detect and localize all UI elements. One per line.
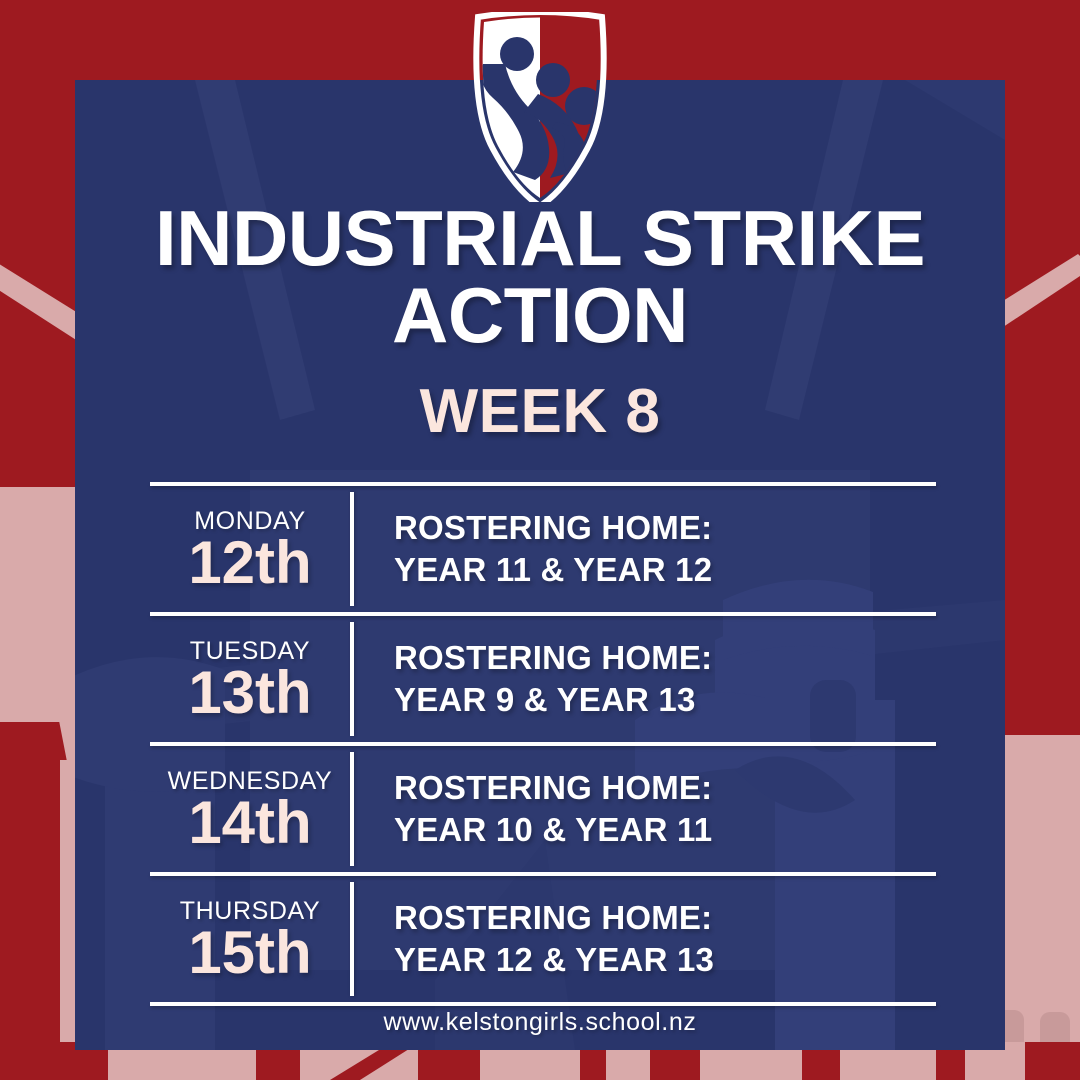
action-line2: YEAR 10 & YEAR 11 xyxy=(394,809,936,851)
strike-action-poster: INDUSTRIAL STRIKE ACTION WEEK 8 MONDAY 1… xyxy=(0,0,1080,1080)
website-url[interactable]: www.kelstongirls.school.nz xyxy=(384,1008,697,1036)
day-date: 15th xyxy=(188,922,311,983)
action-line1: ROSTERING HOME: xyxy=(394,897,936,939)
action-cell: ROSTERING HOME: YEAR 10 & YEAR 11 xyxy=(354,746,936,872)
table-row: WEDNESDAY 14th ROSTERING HOME: YEAR 10 &… xyxy=(150,746,936,872)
action-line1: ROSTERING HOME: xyxy=(394,507,936,549)
headline-line2: ACTION xyxy=(75,277,1005,354)
action-cell: ROSTERING HOME: YEAR 9 & YEAR 13 xyxy=(354,616,936,742)
week-label: WEEK 8 xyxy=(75,376,1005,447)
day-cell: TUESDAY 13th xyxy=(150,616,350,742)
table-row: TUESDAY 13th ROSTERING HOME: YEAR 9 & YE… xyxy=(150,616,936,742)
table-row: THURSDAY 15th ROSTERING HOME: YEAR 12 & … xyxy=(150,876,936,1002)
day-date: 12th xyxy=(188,532,311,593)
day-date: 14th xyxy=(188,792,311,853)
action-cell: ROSTERING HOME: YEAR 11 & YEAR 12 xyxy=(354,486,936,612)
day-cell: MONDAY 12th xyxy=(150,486,350,612)
shield-logo-icon xyxy=(472,12,608,202)
day-cell: WEDNESDAY 14th xyxy=(150,746,350,872)
schedule-table: MONDAY 12th ROSTERING HOME: YEAR 11 & YE… xyxy=(150,482,936,1006)
headline-block: INDUSTRIAL STRIKE ACTION WEEK 8 xyxy=(75,200,1005,447)
action-line1: ROSTERING HOME: xyxy=(394,767,936,809)
action-cell: ROSTERING HOME: YEAR 12 & YEAR 13 xyxy=(354,876,936,1002)
action-line1: ROSTERING HOME: xyxy=(394,637,936,679)
table-row: MONDAY 12th ROSTERING HOME: YEAR 11 & YE… xyxy=(150,486,936,612)
footer: www.kelstongirls.school.nz xyxy=(75,1008,1005,1037)
action-line2: YEAR 11 & YEAR 12 xyxy=(394,549,936,591)
headline-line1: INDUSTRIAL STRIKE xyxy=(75,200,1005,277)
schedule-rule-bottom xyxy=(150,1002,936,1006)
day-date: 13th xyxy=(188,662,311,723)
day-cell: THURSDAY 15th xyxy=(150,876,350,1002)
school-shield-logo xyxy=(472,12,608,202)
action-line2: YEAR 9 & YEAR 13 xyxy=(394,679,936,721)
action-line2: YEAR 12 & YEAR 13 xyxy=(394,939,936,981)
